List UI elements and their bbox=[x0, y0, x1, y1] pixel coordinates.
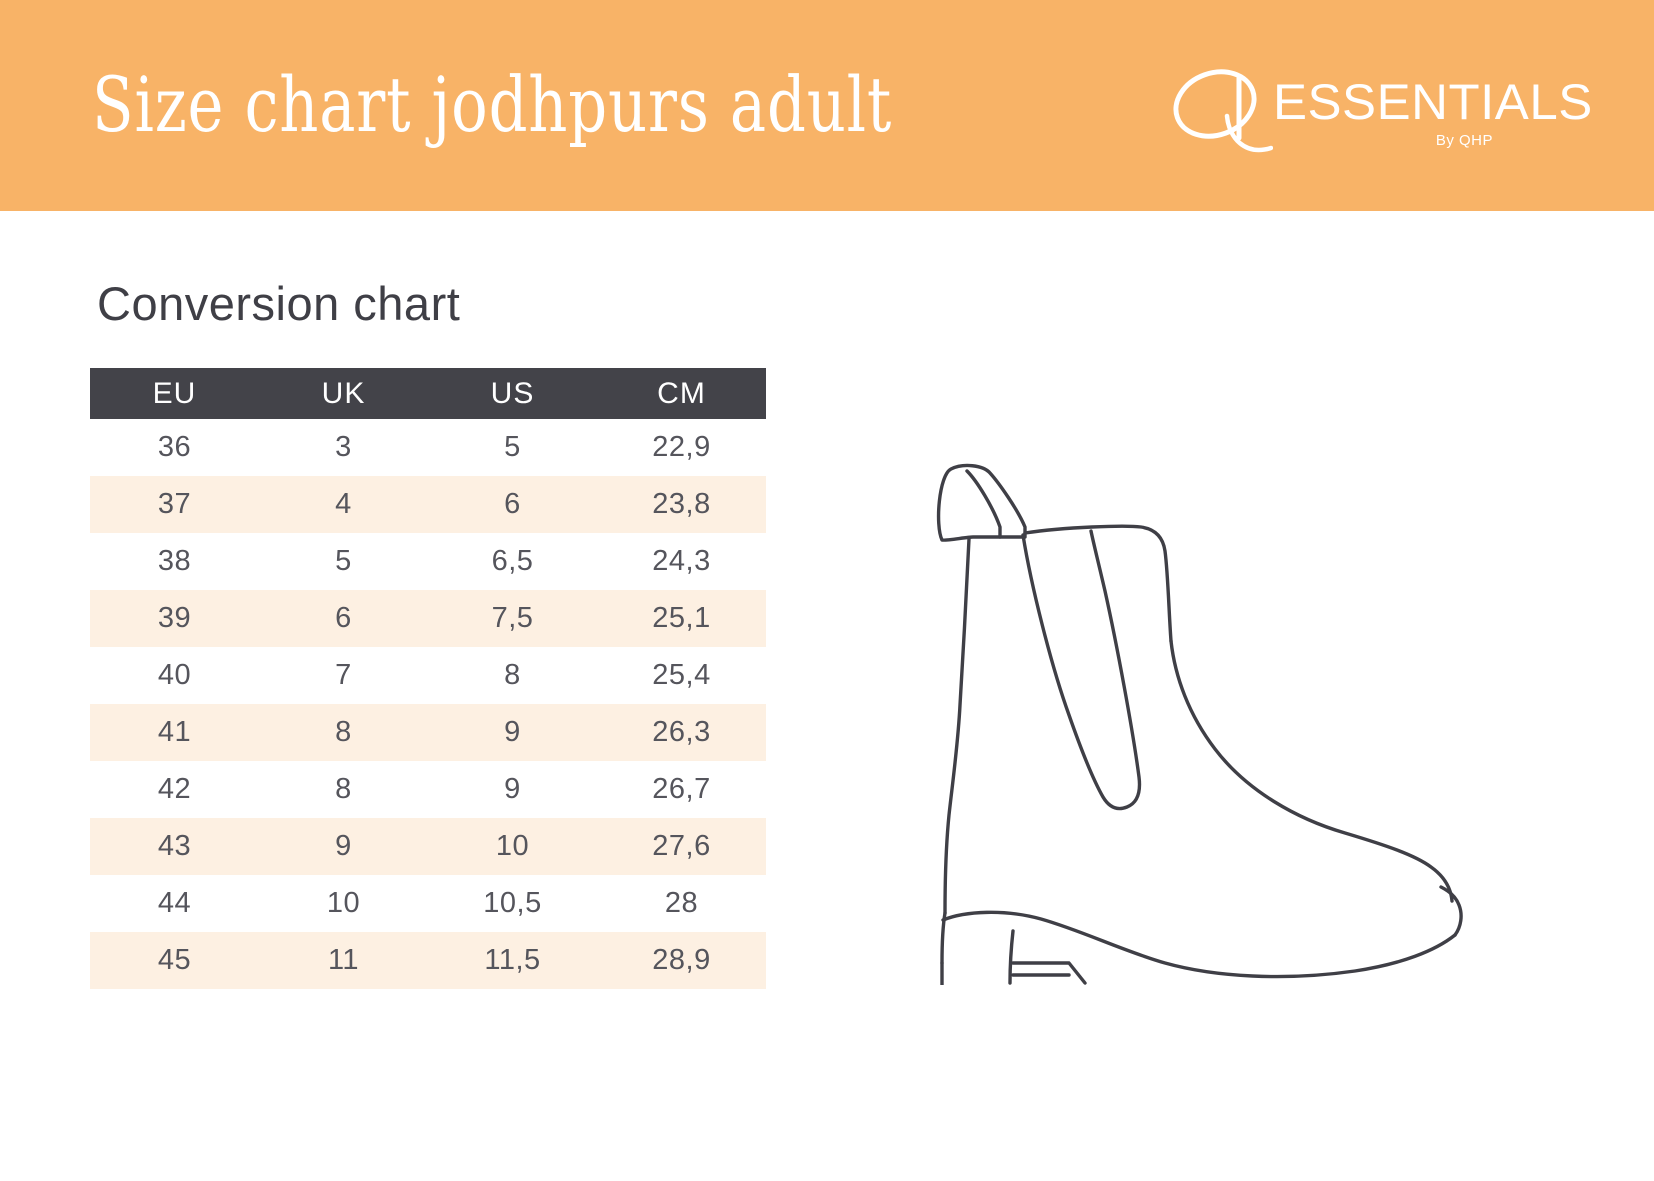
cell-us: 7,5 bbox=[428, 590, 597, 647]
cell-eu: 36 bbox=[90, 419, 259, 476]
cell-uk: 4 bbox=[259, 476, 428, 533]
conversion-table: EU UK US CM 36 3 5 22,9 37 4 6 23,8 38 5 bbox=[90, 368, 766, 989]
table-body: 36 3 5 22,9 37 4 6 23,8 38 5 6,5 24,3 39… bbox=[90, 419, 766, 989]
cell-eu: 38 bbox=[90, 533, 259, 590]
cell-uk: 8 bbox=[259, 761, 428, 818]
cell-us: 9 bbox=[428, 761, 597, 818]
table-row: 43 9 10 27,6 bbox=[90, 818, 766, 875]
cell-cm: 26,3 bbox=[597, 704, 766, 761]
cell-uk: 10 bbox=[259, 875, 428, 932]
cell-us: 6 bbox=[428, 476, 597, 533]
table-row: 37 4 6 23,8 bbox=[90, 476, 766, 533]
page-title: Size chart jodhpurs adult bbox=[92, 60, 892, 150]
table-header: EU UK US CM bbox=[90, 368, 766, 419]
cell-eu: 41 bbox=[90, 704, 259, 761]
cell-us: 5 bbox=[428, 419, 597, 476]
cell-uk: 11 bbox=[259, 932, 428, 989]
table-row: 41 8 9 26,3 bbox=[90, 704, 766, 761]
column-header-uk: UK bbox=[259, 368, 428, 419]
cell-us: 10 bbox=[428, 818, 597, 875]
table-header-row: EU UK US CM bbox=[90, 368, 766, 419]
cell-cm: 27,6 bbox=[597, 818, 766, 875]
cell-cm: 26,7 bbox=[597, 761, 766, 818]
cell-eu: 44 bbox=[90, 875, 259, 932]
cell-us: 10,5 bbox=[428, 875, 597, 932]
table-row: 40 7 8 25,4 bbox=[90, 647, 766, 704]
brand-logo: ESSENTIALS By QHP bbox=[1163, 62, 1493, 167]
table-row: 39 6 7,5 25,1 bbox=[90, 590, 766, 647]
cell-uk: 7 bbox=[259, 647, 428, 704]
column-header-cm: CM bbox=[597, 368, 766, 419]
cell-cm: 25,1 bbox=[597, 590, 766, 647]
section-heading: Conversion chart bbox=[97, 276, 460, 332]
cell-us: 8 bbox=[428, 647, 597, 704]
cell-uk: 6 bbox=[259, 590, 428, 647]
cell-eu: 40 bbox=[90, 647, 259, 704]
cell-us: 11,5 bbox=[428, 932, 597, 989]
header-banner: Size chart jodhpurs adult ESSENTIALS By … bbox=[0, 0, 1654, 211]
cell-cm: 23,8 bbox=[597, 476, 766, 533]
cell-uk: 5 bbox=[259, 533, 428, 590]
table-row: 45 11 11,5 28,9 bbox=[90, 932, 766, 989]
cell-cm: 22,9 bbox=[597, 419, 766, 476]
cell-us: 6,5 bbox=[428, 533, 597, 590]
cell-eu: 45 bbox=[90, 932, 259, 989]
table-row: 36 3 5 22,9 bbox=[90, 419, 766, 476]
cell-uk: 3 bbox=[259, 419, 428, 476]
cell-eu: 43 bbox=[90, 818, 259, 875]
cell-uk: 8 bbox=[259, 704, 428, 761]
cell-us: 9 bbox=[428, 704, 597, 761]
cell-eu: 37 bbox=[90, 476, 259, 533]
conversion-table-container: EU UK US CM 36 3 5 22,9 37 4 6 23,8 38 5 bbox=[90, 368, 766, 989]
cell-cm: 24,3 bbox=[597, 533, 766, 590]
column-header-us: US bbox=[428, 368, 597, 419]
q-monogram-icon bbox=[1163, 60, 1273, 165]
cell-cm: 28 bbox=[597, 875, 766, 932]
table-row: 38 5 6,5 24,3 bbox=[90, 533, 766, 590]
cell-eu: 39 bbox=[90, 590, 259, 647]
table-row: 42 8 9 26,7 bbox=[90, 761, 766, 818]
column-header-eu: EU bbox=[90, 368, 259, 419]
cell-cm: 28,9 bbox=[597, 932, 766, 989]
boot-outline-icon bbox=[939, 466, 1462, 985]
boot-illustration bbox=[855, 415, 1475, 985]
cell-uk: 9 bbox=[259, 818, 428, 875]
cell-cm: 25,4 bbox=[597, 647, 766, 704]
cell-eu: 42 bbox=[90, 761, 259, 818]
logo-wordmark: ESSENTIALS bbox=[1273, 76, 1593, 128]
table-row: 44 10 10,5 28 bbox=[90, 875, 766, 932]
logo-tagline: By QHP bbox=[1436, 132, 1493, 149]
